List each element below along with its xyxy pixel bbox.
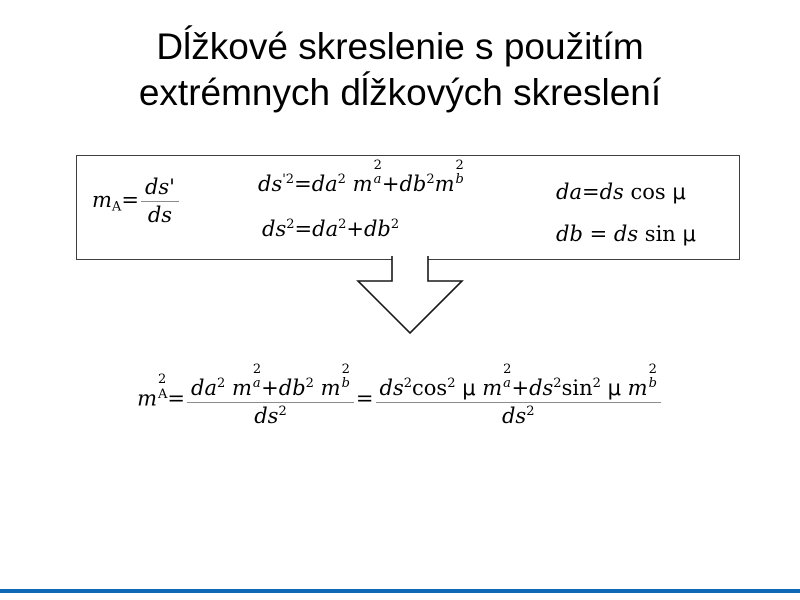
symbol-ds: ds: [614, 222, 638, 246]
fraction-numerator: ds2cos2 μ m2a+ds2sin2 μ m2b: [376, 372, 661, 402]
exponent-two: 2: [553, 376, 561, 391]
equals-sign-second: =: [356, 387, 374, 411]
m-b-squared-indices: 2b: [456, 167, 464, 193]
m-b-squared-indices: 2b: [342, 371, 350, 397]
exponent-two: 2: [158, 373, 167, 386]
equation-scale-definition: mA=ds'ds: [92, 176, 181, 227]
symbol-m: m: [628, 376, 648, 400]
exponent-two: 2: [391, 217, 399, 232]
symbol-mu: μ: [608, 376, 621, 400]
equals-sign: =: [582, 180, 600, 204]
symbol-db: db: [279, 376, 306, 400]
subscript-a: a: [503, 377, 511, 390]
symbol-ds: ds: [258, 172, 282, 196]
m-a-squared-indices: 2a: [503, 371, 511, 397]
subscript-b: b: [342, 377, 350, 390]
exponent-two: 2: [278, 403, 286, 418]
symbol-db: db: [364, 217, 391, 241]
symbol-mu: μ: [672, 180, 685, 204]
down-arrow-shape: [358, 256, 462, 333]
symbol-da: da: [312, 217, 338, 241]
subscript-A: A: [112, 200, 121, 215]
fraction-first: da2 m2a+db2 m2bds2: [187, 372, 354, 428]
plus-sign: +: [261, 376, 279, 400]
m-a-squared-indices: 2a: [374, 167, 382, 193]
down-arrow-icon: [352, 256, 468, 340]
prime-and-exponent: '2: [282, 172, 294, 187]
fraction-second: ds2cos2 μ m2a+ds2sin2 μ m2bds2: [376, 372, 661, 428]
equation-ds-prime-squared: ds'2=da2 m2a+db2m2b: [258, 168, 464, 196]
exponent-two: 2: [503, 363, 511, 376]
subscript-b: b: [456, 173, 464, 186]
equals-sign: =: [121, 188, 139, 212]
symbol-da: da: [191, 376, 217, 400]
exponent-two: 2: [593, 376, 601, 391]
symbol-m: m: [435, 172, 455, 196]
bottom-accent-rule: [0, 589, 800, 593]
equals-sign: =: [590, 222, 608, 246]
equation-final-result: m2A=da2 m2a+db2 m2bds2=ds2cos2 μ m2a+ds2…: [0, 372, 800, 428]
symbol-ds: ds: [254, 404, 278, 428]
exponent-two: 2: [374, 159, 382, 172]
subscript-A: A: [158, 388, 167, 401]
fraction-denominator: ds: [141, 201, 179, 228]
fraction-numerator: da2 m2a+db2 m2b: [187, 372, 354, 402]
symbol-da: da: [556, 180, 582, 204]
trig-function-cos: cos: [631, 180, 666, 204]
page-title-line-2: extrémnych dĺžkových skreslení: [40, 70, 760, 116]
exponent-two: 2: [338, 172, 346, 187]
fraction-numerator: ds': [141, 176, 179, 201]
symbol-m: m: [232, 376, 252, 400]
trig-function-sin: sin: [645, 222, 676, 246]
exponent-two: 2: [217, 376, 225, 391]
fraction-denominator: ds2: [187, 402, 354, 429]
symbol-m: m: [92, 188, 112, 212]
exponent-two: 2: [526, 403, 534, 418]
exponent-two: 2: [306, 376, 314, 391]
symbol-mu: μ: [462, 376, 475, 400]
symbol-ds: ds: [600, 180, 624, 204]
symbol-db: db: [399, 172, 426, 196]
exponent-two: 2: [253, 363, 261, 376]
page-title-line-1: Dĺžkové skreslenie s použitím: [40, 24, 760, 70]
symbol-m: m: [353, 172, 373, 196]
exponent-two: 2: [649, 363, 657, 376]
subscript-b: b: [649, 377, 657, 390]
fraction-ds-prime-over-ds: ds'ds: [141, 176, 179, 227]
equals-sign: =: [294, 172, 312, 196]
plus-sign: +: [511, 376, 529, 400]
symbol-db: db: [556, 222, 583, 246]
symbol-m: m: [482, 376, 502, 400]
symbol-mu: μ: [683, 222, 696, 246]
page-title: Dĺžkové skreslenie s použitím extrémnych…: [40, 24, 760, 116]
exponent-two: 2: [342, 363, 350, 376]
exponent-two: 2: [456, 159, 464, 172]
m-b-squared-indices: 2b: [649, 371, 657, 397]
subscript-a: a: [374, 173, 382, 186]
equation-ds-squared: ds2=da2+db2: [262, 217, 399, 241]
m-A-squared-indices: 2A: [158, 381, 167, 407]
m-a-squared-indices: 2a: [253, 371, 261, 397]
equals-sign: =: [295, 217, 313, 241]
exponent-two: 2: [447, 376, 455, 391]
symbol-da: da: [312, 172, 338, 196]
equation-da-projection: da=ds cos μ: [556, 180, 686, 204]
symbol-m: m: [137, 387, 157, 411]
equation-db-projection: db = ds sin μ: [556, 222, 696, 246]
exponent-two: 2: [286, 217, 294, 232]
fraction-denominator: ds2: [376, 402, 661, 429]
symbol-ds: ds: [502, 404, 526, 428]
exponent-two: 2: [426, 172, 434, 187]
plus-sign: +: [346, 217, 364, 241]
symbol-ds: ds: [380, 376, 404, 400]
symbol-ds: ds: [262, 217, 286, 241]
equals-sign: =: [167, 387, 185, 411]
symbol-ds: ds: [529, 376, 553, 400]
trig-function-sin: sin: [562, 376, 593, 400]
symbol-m: m: [321, 376, 341, 400]
exponent-two: 2: [404, 376, 412, 391]
trig-function-cos: cos: [412, 376, 447, 400]
plus-sign: +: [382, 172, 400, 196]
subscript-a: a: [253, 377, 261, 390]
